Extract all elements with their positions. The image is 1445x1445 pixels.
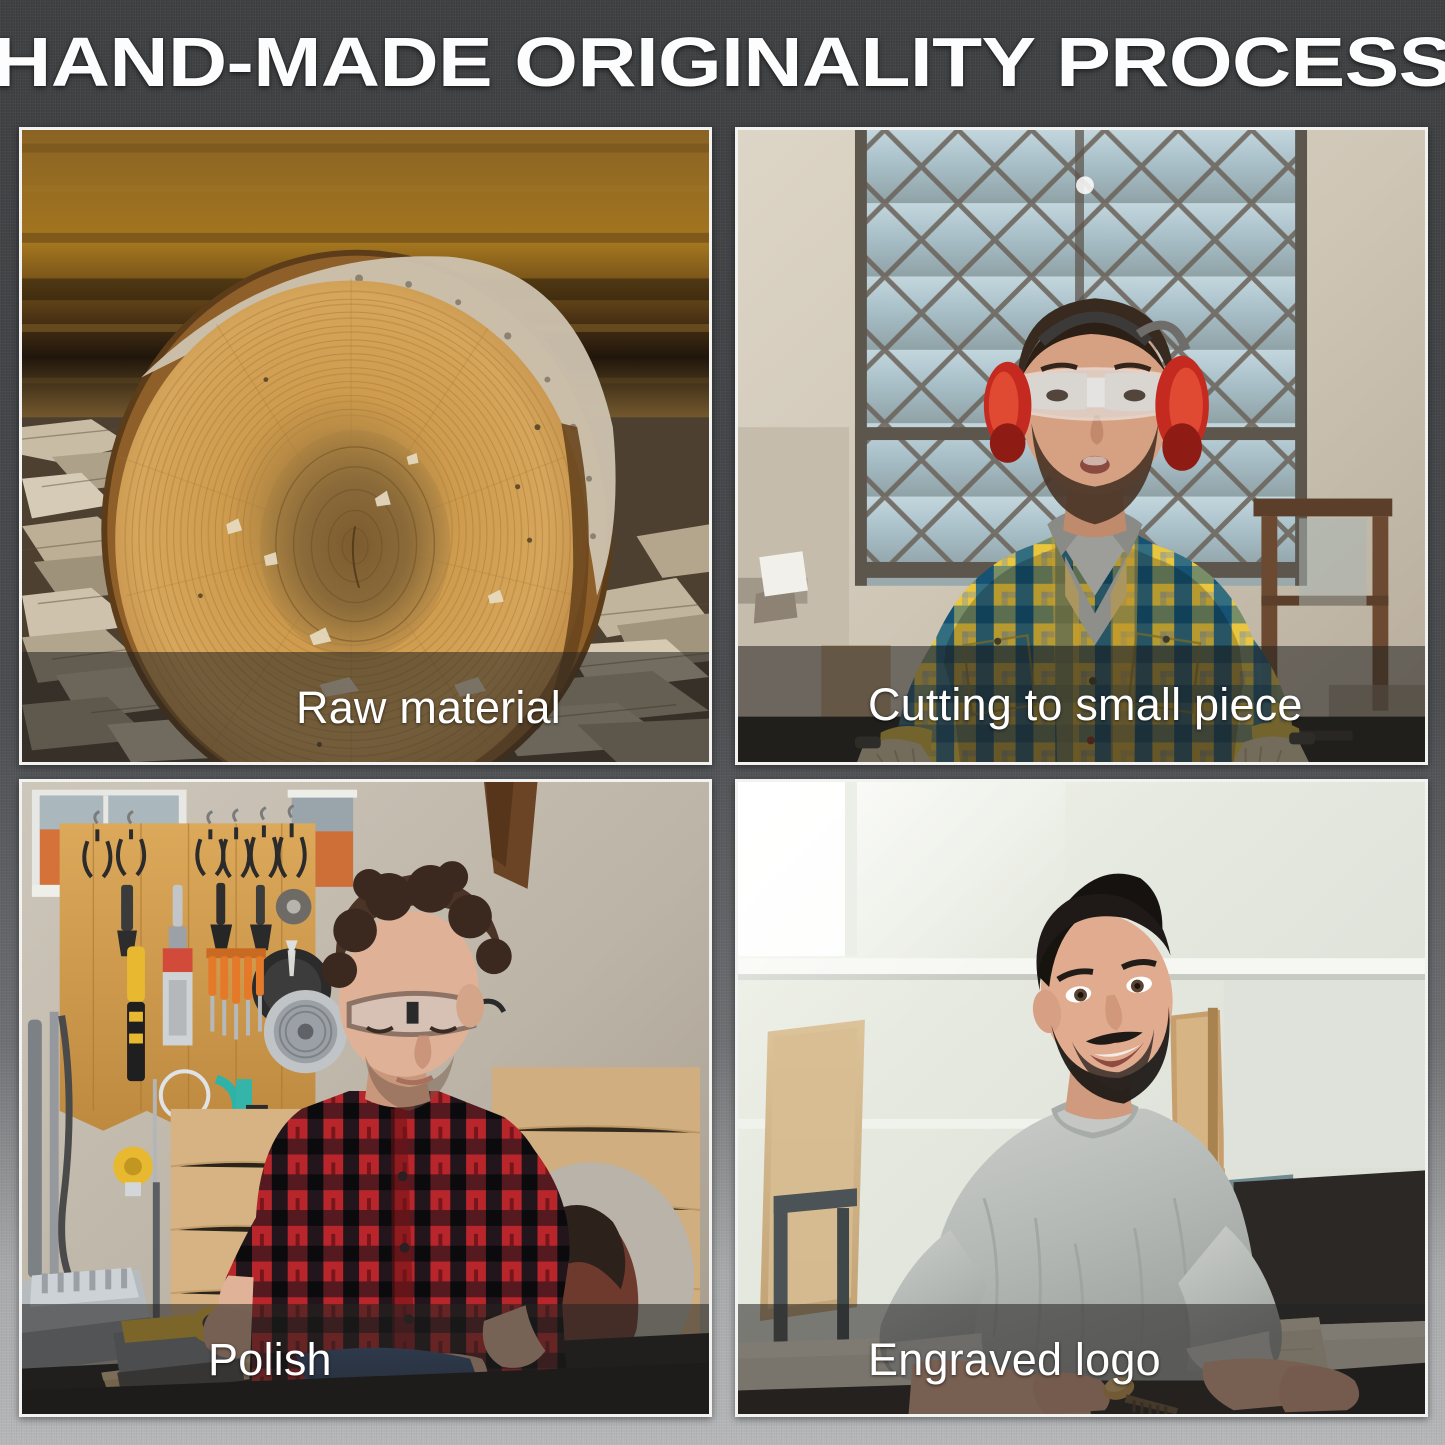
process-step-panel-engraved-logo[interactable]: Engraved logo bbox=[735, 779, 1428, 1417]
caption-label: Engraved logo bbox=[868, 1337, 1161, 1382]
caption-overlay-engraved-logo: Engraved logo bbox=[738, 1304, 1425, 1414]
process-step-panel-polish[interactable]: Polish bbox=[19, 779, 712, 1417]
process-step-panel-cutting[interactable]: Cutting to small piece bbox=[735, 127, 1428, 765]
caption-overlay-cutting: Cutting to small piece bbox=[738, 646, 1425, 762]
process-step-grid: Raw material bbox=[19, 127, 1428, 1417]
page-title: HAND-MADE ORIGINALITY PROCESS bbox=[0, 14, 1445, 110]
poster-canvas: HAND-MADE ORIGINALITY PROCESS bbox=[0, 0, 1445, 1445]
caption-label: Cutting to small piece bbox=[868, 682, 1303, 727]
process-step-panel-raw-material[interactable]: Raw material bbox=[19, 127, 712, 765]
caption-label: Polish bbox=[208, 1337, 332, 1382]
caption-overlay-raw-material: Raw material bbox=[22, 652, 709, 762]
caption-label: Raw material bbox=[296, 685, 561, 730]
caption-overlay-polish: Polish bbox=[22, 1304, 709, 1414]
